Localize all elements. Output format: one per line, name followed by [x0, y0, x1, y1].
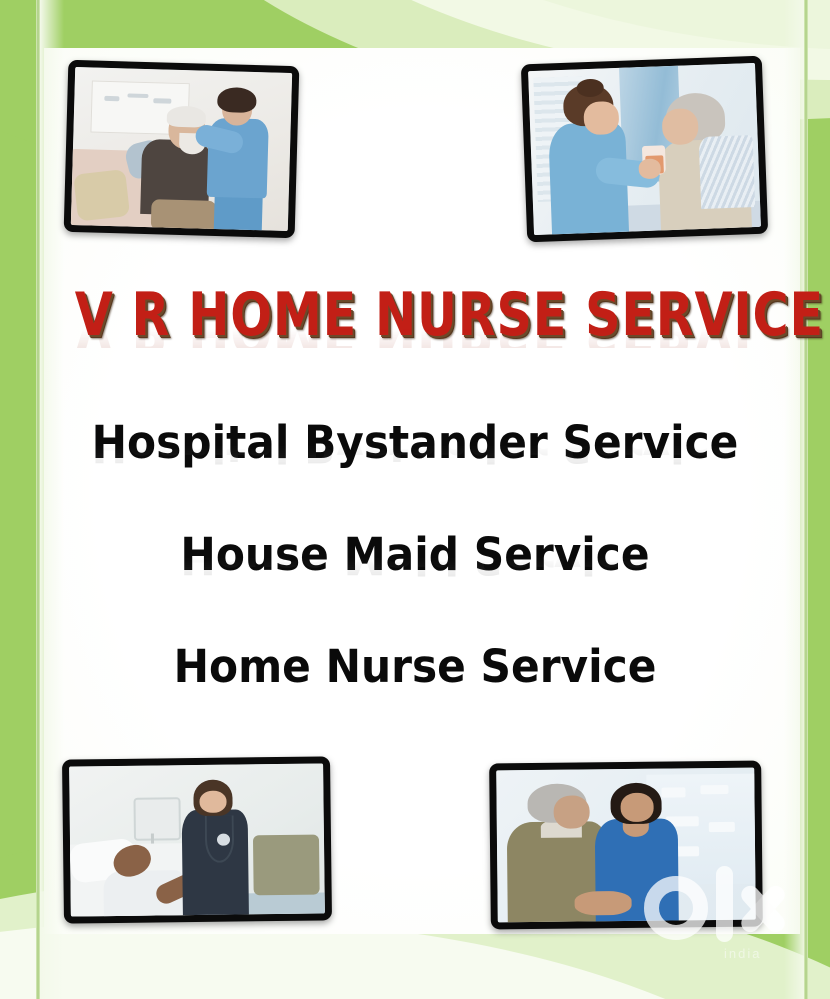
nurse-badge [217, 834, 230, 846]
elderly-man-hair [167, 106, 207, 128]
held-hands [575, 891, 632, 916]
olx-watermark-sub: india [724, 946, 761, 961]
cushion [74, 169, 131, 222]
olx-letter-l-icon [716, 866, 733, 942]
brand-title-reflection: V R HOME NURSE SERVICE [75, 314, 756, 348]
service-label: Home Nurse Service [25, 642, 805, 692]
service-line-hospital-bystander: Hospital Bystander Service Hospital Byst… [0, 418, 830, 508]
photo-3-scene [69, 763, 325, 916]
service-line-home-nurse: Home Nurse Service [0, 642, 830, 692]
service-label-reflection: House Maid Service [25, 540, 805, 580]
photo-nurse-with-patient-in-hospital-bed [62, 756, 332, 923]
elderly-woman-shirt [699, 135, 756, 209]
elderly-man-legs [151, 199, 217, 231]
photo-1-scene [71, 67, 292, 231]
poster-flyer: V R HOME NURSE SERVICE V R HOME NURSE SE… [0, 0, 830, 999]
nurse-face [199, 790, 227, 813]
photo-2-scene [528, 63, 761, 235]
brand-title-block: V R HOME NURSE SERVICE V R HOME NURSE SE… [0, 284, 830, 382]
olx-watermark: india [642, 858, 792, 966]
elderly-woman-face [661, 108, 699, 145]
photo-nurse-assisting-elderly-man-with-walker [64, 60, 300, 238]
visitor-chair [253, 834, 320, 895]
service-label-reflection: Hospital Bystander Service [25, 428, 805, 468]
nurse-face [620, 793, 654, 822]
olx-letter-x-icon [738, 884, 788, 934]
nurse-hair [217, 87, 257, 113]
elderly-woman-face [553, 795, 589, 829]
nurse-face [584, 101, 619, 135]
photo-nurse-giving-drink-to-elderly-woman [521, 56, 768, 243]
nurse-hand [638, 158, 661, 178]
medical-monitor [133, 797, 181, 841]
olx-letter-o-icon [644, 876, 708, 940]
service-line-house-maid: House Maid Service House Maid Service [0, 530, 830, 620]
